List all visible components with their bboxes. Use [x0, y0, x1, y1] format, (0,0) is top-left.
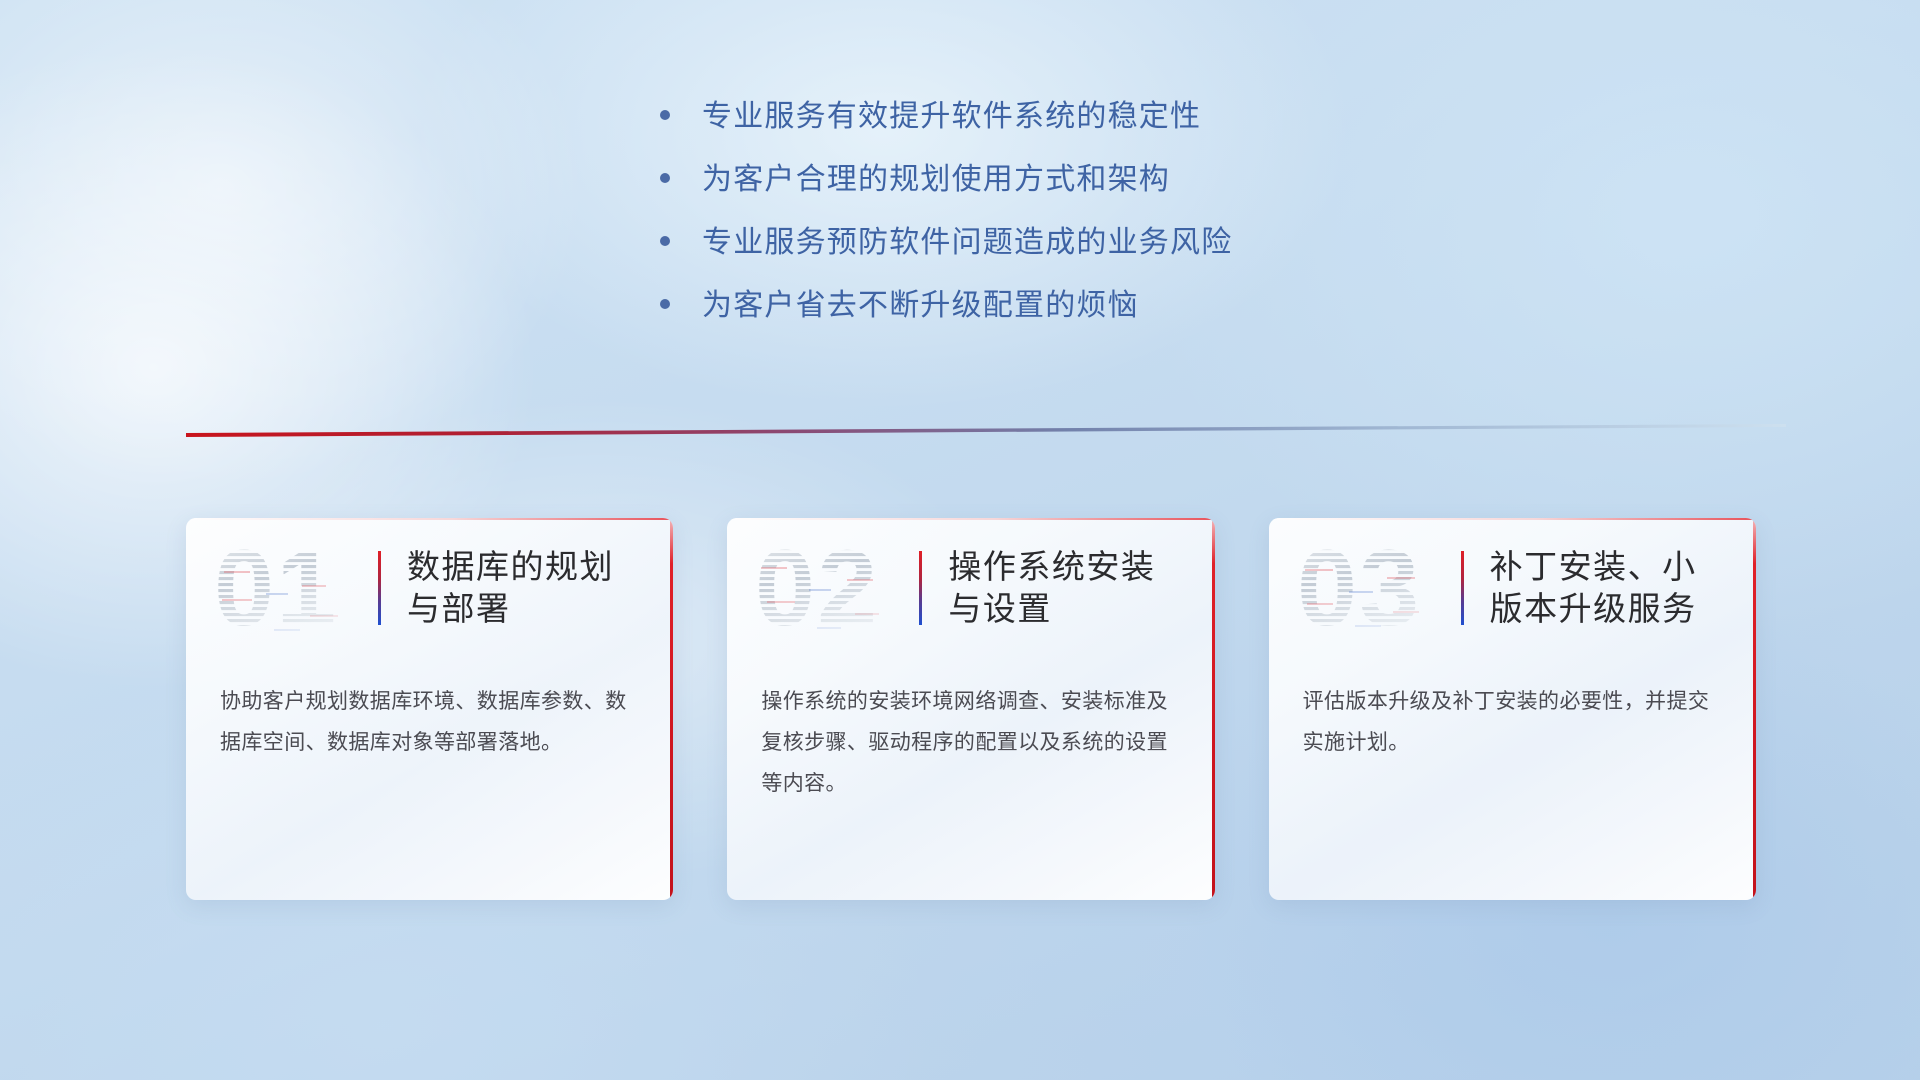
card-accent-bar — [1461, 551, 1464, 625]
bullet-list: 专业服务有效提升软件系统的稳定性 为客户合理的规划使用方式和架构 专业服务预防软… — [660, 100, 1380, 352]
card-header: 03 补丁安装、小版本升级服务 — [1269, 518, 1756, 658]
bullet-text: 专业服务有效提升软件系统的稳定性 — [702, 100, 1201, 133]
bullet-dot-icon — [660, 173, 670, 183]
card-body-text: 操作系统的安装环境网络调查、安装标准及复核步骤、驱动程序的配置以及系统的设置等内… — [727, 658, 1214, 805]
bullet-text: 为客户合理的规划使用方式和架构 — [702, 163, 1170, 196]
striped-number-icon: 02 — [751, 529, 919, 647]
list-item: 为客户合理的规划使用方式和架构 — [660, 163, 1380, 196]
slide-canvas: 专业服务有效提升软件系统的稳定性 为客户合理的规划使用方式和架构 专业服务预防软… — [0, 0, 1920, 1080]
striped-number-icon: 01 — [210, 529, 378, 647]
card-title: 补丁安装、小版本升级服务 — [1490, 546, 1720, 630]
striped-number-icon: 03 — [1293, 529, 1461, 647]
divider — [186, 424, 1786, 438]
divider-wedge-icon — [186, 424, 1786, 438]
bullet-dot-icon — [660, 110, 670, 120]
card-header: 02 操作系统安装与设置 — [727, 518, 1214, 658]
card-body-text: 协助客户规划数据库环境、数据库参数、数据库空间、数据库对象等部署落地。 — [186, 658, 673, 764]
bullet-dot-icon — [660, 236, 670, 246]
svg-text:02: 02 — [755, 529, 879, 647]
bullet-dot-icon — [660, 299, 670, 309]
list-item: 为客户省去不断升级配置的烦恼 — [660, 289, 1380, 322]
card-number-watermark: 01 — [210, 529, 378, 647]
card-02[interactable]: 02 操作系统安装与设置 操作系统的安装环 — [727, 518, 1214, 900]
card-03[interactable]: 03 补丁安装、小版本升级服务 评估版本升 — [1269, 518, 1756, 900]
list-item: 专业服务预防软件问题造成的业务风险 — [660, 226, 1380, 259]
card-body-text: 评估版本升级及补丁安装的必要性，并提交实施计划。 — [1269, 658, 1756, 764]
list-item: 专业服务有效提升软件系统的稳定性 — [660, 100, 1380, 133]
card-title: 数据库的规划与部署 — [407, 546, 637, 630]
card-title: 操作系统安装与设置 — [948, 546, 1178, 630]
svg-text:03: 03 — [1297, 529, 1421, 647]
card-01[interactable]: 01 数据库的规划与部署 协助客户规划数据 — [186, 518, 673, 900]
card-number-watermark: 02 — [751, 529, 919, 647]
card-accent-bar — [378, 551, 381, 625]
card-group: 01 数据库的规划与部署 协助客户规划数据 — [186, 518, 1756, 908]
bullet-text: 为客户省去不断升级配置的烦恼 — [702, 289, 1139, 322]
card-accent-bar — [919, 551, 922, 625]
card-number-watermark: 03 — [1293, 529, 1461, 647]
card-header: 01 数据库的规划与部署 — [186, 518, 673, 658]
bullet-text: 专业服务预防软件问题造成的业务风险 — [702, 226, 1232, 259]
